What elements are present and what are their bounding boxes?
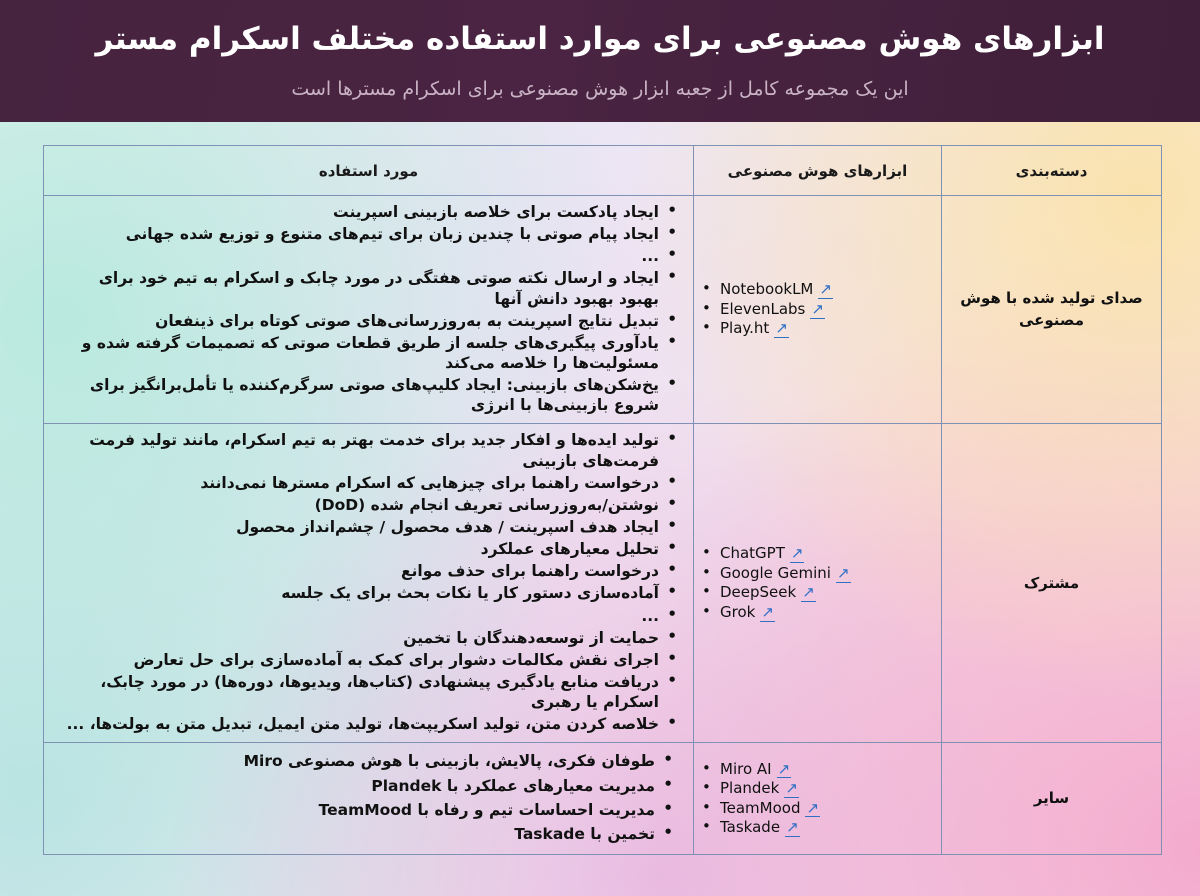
page-title: ابزارهای هوش مصنوعی برای موارد استفاده م… bbox=[0, 20, 1200, 59]
external-link-icon[interactable]: ↗ bbox=[774, 321, 789, 338]
list-item: درخواست راهنما برای حذف موانع bbox=[54, 561, 679, 581]
list-item: دریافت منابع یادگیری پیشنهادی (کتاب‌ها، … bbox=[54, 672, 679, 712]
list-item: ایجاد هدف اسپرینت / هدف محصول / چشم‌اندا… bbox=[54, 517, 679, 537]
tool-name: NotebookLM bbox=[720, 280, 813, 298]
tools-list: ChatGPT↗ Google Gemini↗ DeepSeek↗ Grok↗ bbox=[694, 544, 941, 622]
page-root: ابزارهای هوش مصنوعی برای موارد استفاده م… bbox=[0, 0, 1200, 896]
tool-name: Play.ht bbox=[720, 319, 769, 337]
list-item[interactable]: Play.ht↗ bbox=[702, 319, 919, 339]
tool-name: ChatGPT bbox=[720, 544, 785, 562]
external-link-icon[interactable]: ↗ bbox=[785, 820, 800, 837]
list-item: ایجاد پیام صوتی با چندین زبان برای تیم‌ه… bbox=[54, 224, 679, 244]
list-item[interactable]: Plandek↗ bbox=[702, 779, 919, 799]
use-case-cell: طوفان فکری، پالایش، بازبینی با هوش مصنوع… bbox=[44, 743, 694, 855]
list-item[interactable]: Grok↗ bbox=[702, 603, 919, 623]
use-case-cell: تولید ایده‌ها و افکار جدید برای خدمت بهت… bbox=[44, 424, 694, 743]
list-item: یادآوری پیگیری‌های جلسه از طریق قطعات صو… bbox=[54, 333, 679, 373]
external-link-icon[interactable]: ↗ bbox=[805, 801, 820, 818]
list-item[interactable]: Taskade↗ bbox=[702, 818, 919, 838]
list-item: درخواست راهنما برای چیزهایی که اسکرام مس… bbox=[54, 473, 679, 493]
tools-list: NotebookLM↗ ElevenLabs↗ Play.ht↗ bbox=[694, 280, 941, 339]
external-link-icon[interactable]: ↗ bbox=[810, 302, 825, 319]
tool-name: DeepSeek bbox=[720, 583, 796, 601]
use-case-list: تولید ایده‌ها و افکار جدید برای خدمت بهت… bbox=[44, 424, 693, 742]
list-item[interactable]: Miro AI↗ bbox=[702, 760, 919, 780]
header-banner: ابزارهای هوش مصنوعی برای موارد استفاده م… bbox=[0, 0, 1200, 122]
table-row: مشترک ChatGPT↗ Google Gemini↗ DeepSeek↗ … bbox=[44, 424, 1162, 743]
tool-name: Google Gemini bbox=[720, 564, 831, 582]
category-cell: سایر bbox=[942, 743, 1162, 855]
list-item: نوشتن/به‌روزرسانی تعریف انجام شده (DoD) bbox=[54, 495, 679, 515]
external-link-icon[interactable]: ↗ bbox=[760, 605, 775, 622]
table-row: سایر Miro AI↗ Plandek↗ TeamMood↗ Taskade… bbox=[44, 743, 1162, 855]
use-case-cell: ایجاد پادکست برای خلاصه بازبینی اسپرینت … bbox=[44, 196, 694, 424]
external-link-icon[interactable]: ↗ bbox=[801, 585, 816, 602]
ai-tools-table: دسته‌بندی ابزارهای هوش مصنوعی مورد استفا… bbox=[43, 145, 1162, 855]
list-item: تولید ایده‌ها و افکار جدید برای خدمت بهت… bbox=[54, 430, 679, 470]
list-item[interactable]: ElevenLabs↗ bbox=[702, 300, 919, 320]
tool-name: Plandek bbox=[720, 779, 779, 797]
external-link-icon[interactable]: ↗ bbox=[818, 282, 833, 299]
table-header: دسته‌بندی ابزارهای هوش مصنوعی مورد استفا… bbox=[44, 146, 1162, 196]
tool-name: ElevenLabs bbox=[720, 300, 805, 318]
list-item: ... bbox=[54, 606, 679, 626]
list-item: تبدیل نتایج اسپرینت به به‌روزرسانی‌های ص… bbox=[54, 311, 679, 331]
list-item: مدیریت معیارهای عملکرد با Plandek bbox=[54, 776, 675, 796]
table-header-row: دسته‌بندی ابزارهای هوش مصنوعی مورد استفا… bbox=[44, 146, 1162, 196]
list-item: خلاصه کردن متن، تولید اسکریپت‌ها، تولید … bbox=[54, 714, 679, 734]
column-header-tools: ابزارهای هوش مصنوعی bbox=[694, 146, 942, 196]
use-case-list: ایجاد پادکست برای خلاصه بازبینی اسپرینت … bbox=[44, 196, 693, 423]
list-item: طوفان فکری، پالایش، بازبینی با هوش مصنوع… bbox=[54, 751, 675, 771]
list-item[interactable]: ChatGPT↗ bbox=[702, 544, 919, 564]
list-item: اجرای نقش مکالمات دشوار برای کمک به آماد… bbox=[54, 650, 679, 670]
list-item: تحلیل معیارهای عملکرد bbox=[54, 539, 679, 559]
list-item: ایجاد پادکست برای خلاصه بازبینی اسپرینت bbox=[54, 202, 679, 222]
list-item[interactable]: DeepSeek↗ bbox=[702, 583, 919, 603]
table-body: صدای تولید شده با هوش مصنوعی NotebookLM↗… bbox=[44, 196, 1162, 855]
list-item: آماده‌سازی دستور کار یا نکات بحث برای یک… bbox=[54, 583, 679, 603]
list-item: حمایت از توسعه‌دهندگان با تخمین bbox=[54, 628, 679, 648]
external-link-icon[interactable]: ↗ bbox=[836, 566, 851, 583]
tools-cell: Miro AI↗ Plandek↗ TeamMood↗ Taskade↗ bbox=[694, 743, 942, 855]
list-item[interactable]: TeamMood↗ bbox=[702, 799, 919, 819]
category-cell: مشترک bbox=[942, 424, 1162, 743]
use-case-list: طوفان فکری، پالایش، بازبینی با هوش مصنوع… bbox=[44, 743, 693, 854]
category-cell: صدای تولید شده با هوش مصنوعی bbox=[942, 196, 1162, 424]
external-link-icon[interactable]: ↗ bbox=[790, 546, 805, 563]
list-item[interactable]: NotebookLM↗ bbox=[702, 280, 919, 300]
tools-cell: NotebookLM↗ ElevenLabs↗ Play.ht↗ bbox=[694, 196, 942, 424]
list-item: یخ‌شکن‌های بازبینی: ایجاد کلیپ‌های صوتی … bbox=[54, 375, 679, 415]
tools-list: Miro AI↗ Plandek↗ TeamMood↗ Taskade↗ bbox=[694, 760, 941, 838]
column-header-use-case: مورد استفاده bbox=[44, 146, 694, 196]
table-row: صدای تولید شده با هوش مصنوعی NotebookLM↗… bbox=[44, 196, 1162, 424]
list-item[interactable]: Google Gemini↗ bbox=[702, 564, 919, 584]
tool-name: Taskade bbox=[720, 818, 780, 836]
tool-name: TeamMood bbox=[720, 799, 800, 817]
column-header-category: دسته‌بندی bbox=[942, 146, 1162, 196]
list-item: تخمین با Taskade bbox=[54, 824, 675, 844]
tools-cell: ChatGPT↗ Google Gemini↗ DeepSeek↗ Grok↗ bbox=[694, 424, 942, 743]
external-link-icon[interactable]: ↗ bbox=[777, 762, 792, 779]
list-item: مدیریت احساسات تیم و رفاه با TeamMood bbox=[54, 800, 675, 820]
external-link-icon[interactable]: ↗ bbox=[784, 781, 799, 798]
page-subtitle: این یک مجموعه کامل از جعبه ابزار هوش مصن… bbox=[0, 78, 1200, 101]
tool-name: Grok bbox=[720, 603, 755, 621]
list-item: ... bbox=[54, 246, 679, 266]
tool-name: Miro AI bbox=[720, 760, 772, 778]
list-item: ایجاد و ارسال نکته صوتی هفتگی در مورد چا… bbox=[54, 268, 679, 308]
